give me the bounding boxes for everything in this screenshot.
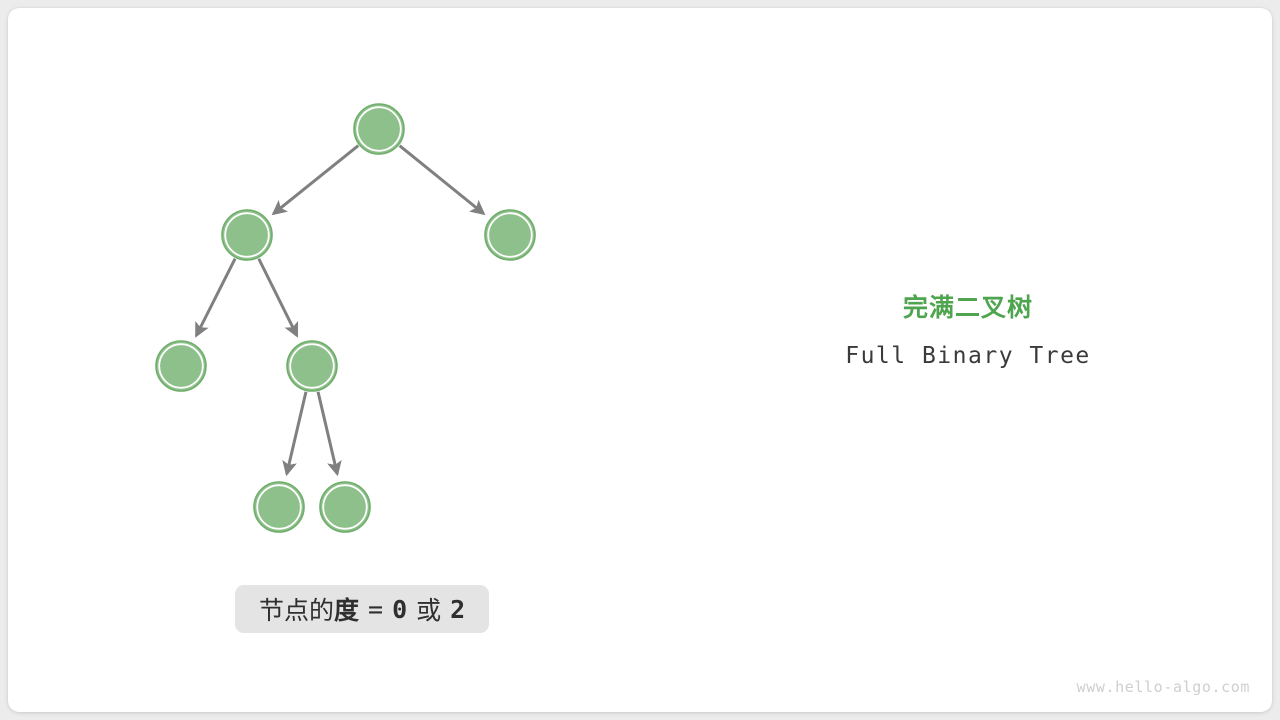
title-english: Full Binary Tree [768, 342, 1168, 370]
tree-edge [400, 146, 484, 214]
degree-legend-badge: 节点的度=0或2 [235, 585, 489, 633]
legend-value-a: 0 [392, 595, 407, 624]
legend-conjunction: 或 [416, 591, 441, 627]
tree-node-inner-ring [357, 107, 401, 151]
tree-node-inner-ring [225, 213, 269, 257]
tree-edge [318, 392, 337, 474]
tree-node [287, 341, 337, 391]
tree-edge-layer [196, 146, 483, 474]
tree-node [156, 341, 206, 391]
tree-node-inner-ring [257, 485, 301, 529]
tree-edge [274, 146, 359, 214]
tree-node-inner-ring [159, 344, 203, 388]
title-block: 完满二叉树 Full Binary Tree [768, 292, 1168, 370]
tree-node [222, 210, 272, 260]
legend-value-b: 2 [450, 595, 465, 624]
legend-prefix: 节点的 [259, 591, 334, 627]
tree-node [485, 210, 535, 260]
tree-edge [196, 259, 235, 336]
title-chinese: 完满二叉树 [768, 292, 1168, 324]
legend-bold-term: 度 [334, 591, 359, 627]
figure-canvas: 完满二叉树 Full Binary Tree 节点的度=0或2 www.hell… [0, 0, 1280, 720]
tree-node [320, 482, 370, 532]
tree-node-layer [156, 104, 535, 532]
tree-node-inner-ring [488, 213, 532, 257]
tree-node [254, 482, 304, 532]
site-watermark: www.hello-algo.com [1077, 678, 1250, 696]
tree-edge [259, 259, 297, 336]
tree-node [354, 104, 404, 154]
legend-equals: = [368, 595, 383, 624]
tree-node-inner-ring [323, 485, 367, 529]
tree-node-inner-ring [290, 344, 334, 388]
tree-edge [287, 392, 306, 474]
